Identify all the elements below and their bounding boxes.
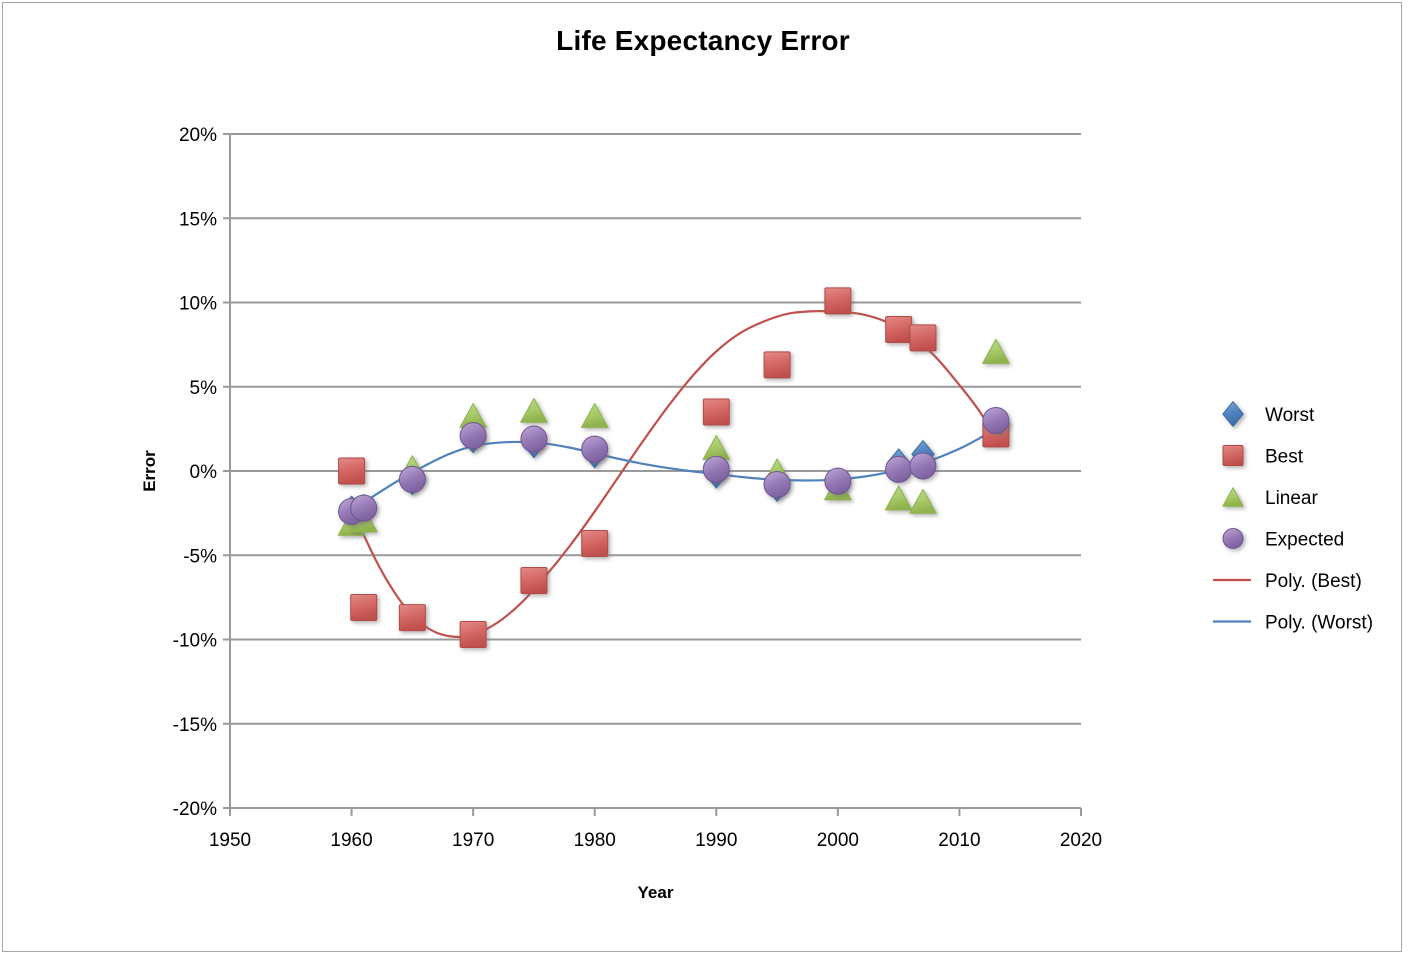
x-tick-label: 1950 <box>209 830 251 851</box>
data-point-linear <box>910 489 937 513</box>
x-tick-label: 2020 <box>1060 830 1102 851</box>
data-point-best <box>910 325 936 351</box>
marker-square <box>1223 446 1243 466</box>
data-point-best <box>521 568 547 594</box>
legend-label: Linear <box>1265 488 1318 509</box>
legend-item-poly-best[interactable]: Poly. (Best) <box>1213 571 1362 592</box>
marker-triangle <box>983 339 1010 363</box>
marker-diamond <box>1223 402 1243 427</box>
marker-triangle <box>1223 488 1243 506</box>
chart-canvas: 20%15%10%5%0%-5%-10%-15%-20% 19501960197… <box>3 3 1403 953</box>
y-tick-label: -15% <box>173 715 217 736</box>
legend-item-expected[interactable]: Expected <box>1223 529 1344 551</box>
legend-item-best[interactable]: Best <box>1223 446 1304 468</box>
legend-item-worst[interactable]: Worst <box>1223 402 1315 427</box>
legend-label: Poly. (Best) <box>1265 571 1362 592</box>
data-point-best <box>399 605 425 631</box>
legend-item-poly-worst[interactable]: Poly. (Worst) <box>1213 613 1373 634</box>
marker-circle <box>1223 529 1243 549</box>
marker-square <box>399 605 425 631</box>
data-point-expected <box>351 495 377 521</box>
marker-circle <box>351 495 377 521</box>
data-point-best <box>886 316 912 342</box>
x-tick-label: 1990 <box>695 830 737 851</box>
marker-triangle <box>581 403 608 427</box>
data-point-linear <box>983 339 1010 363</box>
marker-square <box>351 594 377 620</box>
legend-label: Worst <box>1265 405 1315 426</box>
y-tick-label: 15% <box>179 209 217 230</box>
data-point-linear <box>703 435 730 459</box>
x-tick-label: 2000 <box>817 830 859 851</box>
marker-triangle <box>703 435 730 459</box>
legend-marker-diamond <box>1223 402 1243 427</box>
data-point-expected <box>582 436 608 462</box>
legend-marker-square <box>1223 446 1243 466</box>
y-tick-label: 0% <box>190 462 218 483</box>
data-point-best <box>339 458 365 484</box>
data-point-expected <box>910 453 936 479</box>
data-point-expected <box>460 423 486 449</box>
legend-label: Best <box>1265 447 1304 468</box>
chart-legend: WorstBestLinearExpectedPoly. (Best)Poly.… <box>1213 402 1373 634</box>
data-point-expected <box>983 407 1009 433</box>
data-point-expected <box>399 466 425 492</box>
data-point-best <box>460 621 486 647</box>
y-tick-label: 10% <box>179 294 217 315</box>
marker-circle <box>764 471 790 497</box>
y-tick-label: 5% <box>190 378 218 399</box>
series-linear <box>338 339 1009 535</box>
legend-marker-circle <box>1223 529 1243 549</box>
data-point-linear <box>885 486 912 510</box>
x-tick-label: 1960 <box>330 830 372 851</box>
marker-square <box>460 621 486 647</box>
data-point-best <box>703 399 729 425</box>
data-points <box>338 288 1009 648</box>
marker-triangle <box>521 398 548 422</box>
marker-circle <box>703 456 729 482</box>
legend-label: Expected <box>1265 530 1344 551</box>
x-tick-label: 2010 <box>938 830 980 851</box>
data-point-expected <box>521 426 547 452</box>
marker-square <box>703 399 729 425</box>
marker-circle <box>582 436 608 462</box>
data-point-best <box>582 530 608 556</box>
marker-circle <box>910 453 936 479</box>
legend-item-linear[interactable]: Linear <box>1223 488 1319 509</box>
marker-circle <box>521 426 547 452</box>
marker-square <box>910 325 936 351</box>
y-tick-label: -5% <box>183 546 217 567</box>
marker-square <box>825 288 851 314</box>
x-axis-title: Year <box>638 883 674 902</box>
marker-square <box>582 530 608 556</box>
data-point-best <box>351 594 377 620</box>
data-point-expected <box>764 471 790 497</box>
y-tick-label: -10% <box>173 631 217 652</box>
data-point-linear <box>521 398 548 422</box>
data-point-best <box>825 288 851 314</box>
x-tick-label: 1980 <box>574 830 616 851</box>
data-point-expected <box>825 468 851 494</box>
marker-square <box>886 316 912 342</box>
marker-square <box>521 568 547 594</box>
legend-label: Poly. (Worst) <box>1265 613 1373 634</box>
data-point-expected <box>886 456 912 482</box>
data-point-expected <box>703 456 729 482</box>
legend-marker-triangle <box>1223 488 1243 506</box>
y-axis-tick-labels: 20%15%10%5%0%-5%-10%-15%-20% <box>173 125 217 820</box>
marker-circle <box>399 466 425 492</box>
y-tick-label: 20% <box>179 125 217 146</box>
y-tick-label: -20% <box>173 799 217 820</box>
x-tick-label: 1970 <box>452 830 494 851</box>
marker-square <box>764 352 790 378</box>
data-point-linear <box>581 403 608 427</box>
marker-triangle <box>910 489 937 513</box>
marker-circle <box>460 423 486 449</box>
marker-circle <box>983 407 1009 433</box>
marker-square <box>339 458 365 484</box>
marker-triangle <box>885 486 912 510</box>
x-axis-tick-labels: 19501960197019801990200020102020 <box>209 830 1102 851</box>
chart-frame: Life Expectancy Error 20%15%10%5%0%-5%-1… <box>2 2 1402 952</box>
marker-circle <box>825 468 851 494</box>
y-axis-title: Error <box>140 450 159 492</box>
marker-circle <box>886 456 912 482</box>
data-point-best <box>764 352 790 378</box>
